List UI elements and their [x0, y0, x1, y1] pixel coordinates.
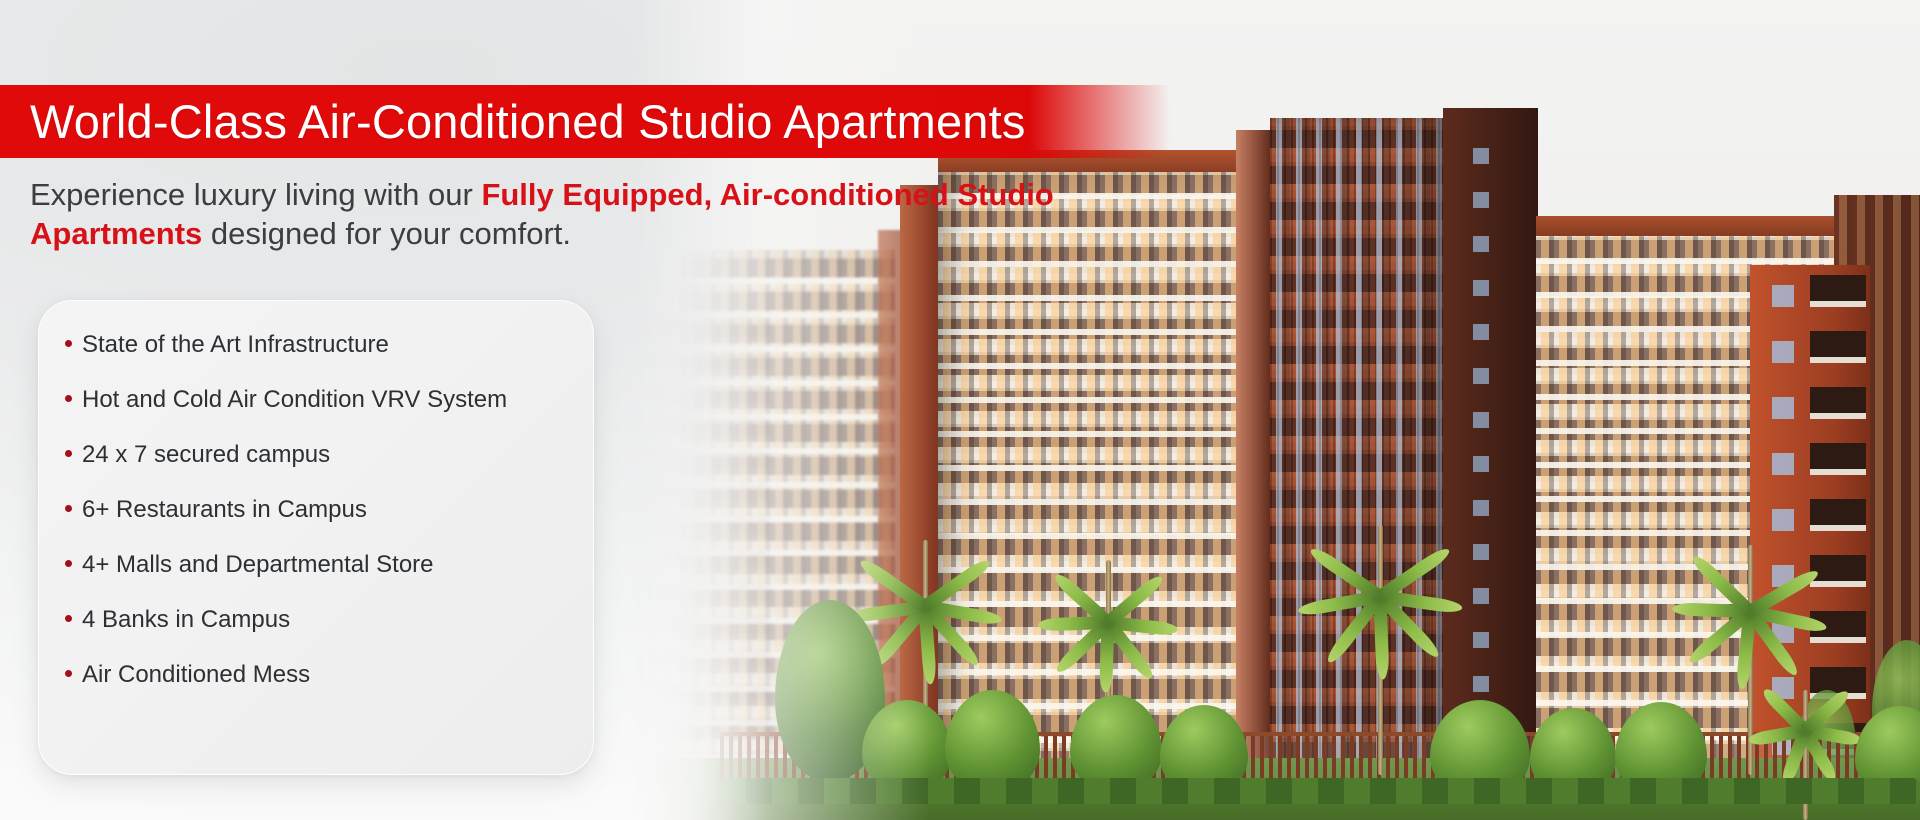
- features-list: State of the Art Infrastructure Hot and …: [65, 333, 563, 687]
- right-tower-roof-cap: [1536, 216, 1836, 236]
- service-core-windows: [1473, 148, 1489, 788]
- bullet-icon: [65, 395, 72, 402]
- headline-banner: World-Class Air-Conditioned Studio Apart…: [0, 85, 1170, 158]
- list-item-label: Hot and Cold Air Condition VRV System: [82, 388, 507, 412]
- subtitle-lead: Experience luxury living with our: [30, 177, 481, 212]
- list-item-label: 4+ Malls and Departmental Store: [82, 553, 434, 577]
- subtitle-tail: designed for your comfort.: [202, 216, 571, 251]
- list-item: Air Conditioned Mess: [65, 663, 563, 687]
- list-item: 4+ Malls and Departmental Store: [65, 553, 563, 577]
- list-item-label: State of the Art Infrastructure: [82, 333, 389, 357]
- list-item: Hot and Cold Air Condition VRV System: [65, 388, 563, 412]
- bullet-icon: [65, 450, 72, 457]
- bullet-icon: [65, 505, 72, 512]
- bullet-icon: [65, 615, 72, 622]
- bullet-icon: [65, 340, 72, 347]
- promo-banner-page: World-Class Air-Conditioned Studio Apart…: [0, 0, 1920, 820]
- list-item: 4 Banks in Campus: [65, 608, 563, 632]
- list-item-label: Air Conditioned Mess: [82, 663, 310, 687]
- bullet-icon: [65, 560, 72, 567]
- list-item: 6+ Restaurants in Campus: [65, 498, 563, 522]
- page-title: World-Class Air-Conditioned Studio Apart…: [0, 94, 1026, 149]
- features-card: State of the Art Infrastructure Hot and …: [38, 300, 594, 775]
- bullet-icon: [65, 670, 72, 677]
- list-item-label: 4 Banks in Campus: [82, 608, 290, 632]
- list-item: State of the Art Infrastructure: [65, 333, 563, 357]
- list-item-label: 6+ Restaurants in Campus: [82, 498, 367, 522]
- list-item: 24 x 7 secured campus: [65, 443, 563, 467]
- subtitle-text: Experience luxury living with our Fully …: [30, 175, 1190, 253]
- main-tower-corner-column: [1236, 130, 1272, 820]
- list-item-label: 24 x 7 secured campus: [82, 443, 330, 467]
